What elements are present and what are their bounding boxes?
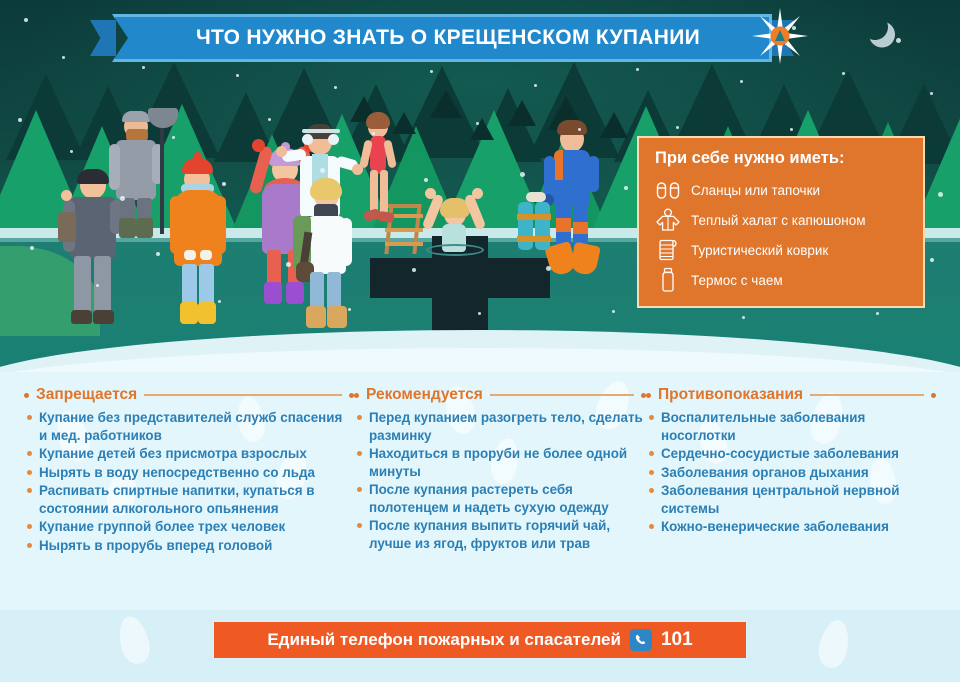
kit-item-label: Термос с чаем — [691, 273, 783, 288]
phone-handset-icon — [630, 629, 652, 651]
blonde-woman-with-bag — [290, 180, 360, 332]
guideline-columns: Запрещается Купание без представителей с… — [0, 372, 960, 610]
list-item: Кожно-венерические заболевания — [646, 518, 936, 536]
emergency-phone-number: 101 — [661, 629, 693, 651]
section-title: Запрещается — [36, 386, 137, 404]
list-item: Купание без представителей служб спасени… — [24, 409, 354, 444]
list-item: Нырять в воду непосредственно со льда — [24, 464, 354, 482]
woman-in-ice-hole — [418, 188, 490, 260]
section-header: Противопоказания — [646, 384, 936, 406]
header-ribbon: ЧТО НУЖНО ЗНАТЬ О КРЕЩЕНСКОМ КУПАНИИ — [112, 14, 772, 62]
woman-in-red-swimsuit — [358, 112, 398, 234]
list-item: Заболевания органов дыхания — [646, 464, 936, 482]
list-item: Купание группой более трех человек — [24, 518, 354, 536]
slippers-icon — [655, 177, 681, 203]
diver-with-scuba-tanks — [540, 118, 612, 278]
section-title: Рекомендуется — [366, 386, 483, 404]
list-item: После купания выпить горячий чай, лучше … — [354, 517, 646, 552]
column-contraindications: Противопоказания Воспалительные заболева… — [646, 384, 936, 610]
kit-item: Теплый халат с капюшоном — [655, 205, 909, 235]
list-item: Распивать спиртные напитки, купаться в с… — [24, 482, 354, 517]
person-in-orange-coat — [168, 158, 230, 326]
header-dot-left — [354, 393, 359, 398]
section-title: Противопоказания — [658, 386, 803, 404]
infographic-poster: ЧТО НУЖНО ЗНАТЬ О КРЕЩЕНСКОМ КУПАНИИ При… — [0, 0, 960, 682]
bullet-list: Купание без представителей служб спасени… — [24, 409, 354, 554]
header-rule — [490, 394, 634, 396]
header-dot-left — [646, 393, 651, 398]
info-panel: Запрещается Купание без представителей с… — [0, 372, 960, 610]
column-recommended: Рекомендуется Перед купанием разогреть т… — [354, 384, 646, 610]
header-rule — [810, 394, 924, 396]
equipment-checklist-box: При себе нужно иметь: Сланцы или тапочки — [637, 136, 925, 308]
kit-item-label: Туристический коврик — [691, 243, 828, 258]
kit-item-label: Теплый халат с капюшоном — [691, 213, 866, 228]
list-item: Воспалительные заболевания носоглотки — [646, 409, 936, 444]
thermos-icon — [655, 267, 681, 293]
kit-title: При себе нужно иметь: — [655, 149, 909, 168]
kit-list: Сланцы или тапочки Теплый халат с капюшо… — [655, 175, 909, 295]
emercom-star-emblem — [752, 8, 808, 64]
bullet-list: Перед купанием разогреть тело, сделать р… — [354, 409, 646, 552]
kit-item: Термос с чаем — [655, 265, 909, 295]
section-header: Запрещается — [24, 384, 354, 406]
page-title: ЧТО НУЖНО ЗНАТЬ О КРЕЩЕНСКОМ КУПАНИИ — [184, 26, 700, 50]
header-dot-right — [931, 393, 936, 398]
section-header: Рекомендуется — [354, 384, 646, 406]
column-prohibited: Запрещается Купание без представителей с… — [24, 384, 354, 610]
list-item: Находиться в проруби не более одной мину… — [354, 445, 646, 480]
kit-item-label: Сланцы или тапочки — [691, 183, 820, 198]
list-item: Заболевания центральной нервной системы — [646, 482, 936, 517]
bullet-list: Воспалительные заболевания носоглотки Се… — [646, 409, 936, 536]
list-item: Перед купанием разогреть тело, сделать р… — [354, 409, 646, 444]
kit-item: Туристический коврик — [655, 235, 909, 265]
header-rule — [144, 394, 342, 396]
list-item: После купания растереть себя полотенцем … — [354, 481, 646, 516]
camping-mat-icon — [655, 237, 681, 263]
list-item: Купание детей без присмотра взрослых — [24, 445, 354, 463]
list-item: Нырять в прорубь вперед головой — [24, 537, 354, 555]
emergency-phone-label: Единый телефон пожарных и спасателей — [267, 630, 621, 650]
hooded-robe-icon — [655, 207, 681, 233]
emergency-phone-banner: Единый телефон пожарных и спасателей 101 — [214, 622, 746, 658]
ribbon-body: ЧТО НУЖНО ЗНАТЬ О КРЕЩЕНСКОМ КУПАНИИ — [112, 14, 772, 62]
kit-item: Сланцы или тапочки — [655, 175, 909, 205]
list-item: Сердечно-сосудистые заболевания — [646, 445, 936, 463]
header-dot-left — [24, 393, 29, 398]
